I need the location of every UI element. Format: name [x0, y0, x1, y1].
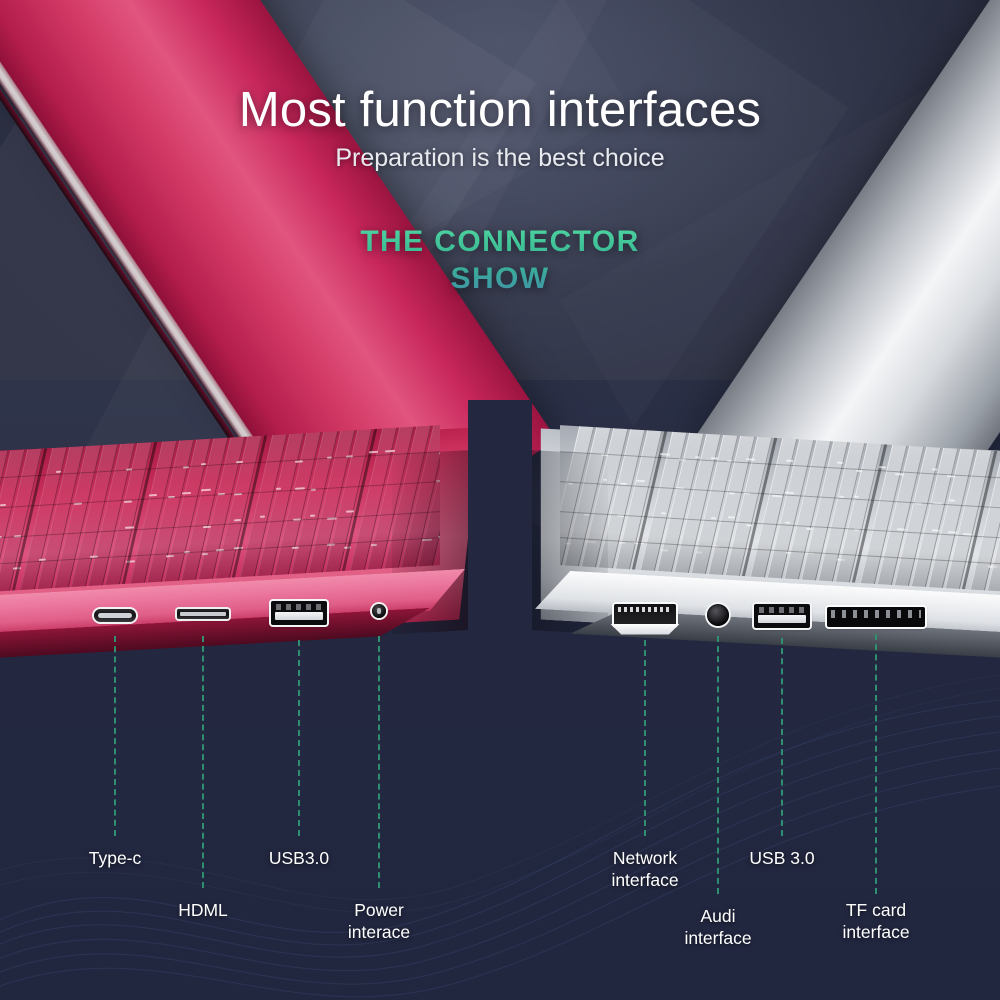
accent-heading: THE CONNECTOR SHOW: [0, 224, 1000, 297]
background-wave-mesh: [0, 670, 1000, 1000]
usb-pins: [759, 607, 805, 613]
key-legend: [806, 528, 812, 530]
key-legend: [56, 470, 62, 472]
key-legend: [310, 514, 315, 516]
usb-pins: [276, 604, 322, 610]
key-legend: [879, 466, 886, 468]
usb-tongue: [758, 615, 806, 623]
usb-tongue: [275, 612, 323, 620]
key-legend: [711, 457, 718, 459]
hdmi-port-icon: [177, 609, 229, 619]
page-title: Most function interfaces: [0, 82, 1000, 138]
port-label: TF card interface: [776, 900, 976, 944]
tf-card-slot-icon: [827, 607, 925, 627]
accent-heading-line2: SHOW: [451, 262, 550, 295]
port-label: Type-c: [15, 848, 215, 870]
key-legend: [895, 473, 903, 476]
key-legend: [661, 512, 666, 514]
product-marketing-image: Most function interfaces Preparation is …: [0, 0, 1000, 1000]
key-legend: [0, 504, 6, 506]
key-legend: [854, 495, 860, 497]
rj45-pins: [618, 607, 672, 612]
center-background-gap: [468, 400, 532, 650]
rj45-ethernet-port-icon: [614, 604, 676, 626]
port-label: HDML: [103, 900, 303, 922]
usb-type-c-port-icon: [94, 609, 136, 622]
key-legend: [276, 487, 281, 489]
rj45-flip-door: [610, 624, 680, 635]
key-legend: [785, 491, 794, 494]
page-subtitle: Preparation is the best choice: [0, 144, 1000, 173]
port-leader-line: [298, 640, 300, 836]
port-leader-line: [781, 638, 783, 836]
accent-heading-line1: THE CONNECTOR: [360, 225, 639, 258]
usb-a-port-icon: [754, 604, 810, 628]
port-leader-line: [644, 640, 646, 836]
port-leader-line: [114, 636, 116, 836]
key-legend: [746, 524, 753, 526]
port-label: USB 3.0: [682, 848, 882, 870]
key-legend: [785, 521, 790, 523]
key-legend: [932, 529, 939, 531]
key-legend: [786, 459, 793, 461]
tf-contacts: [831, 610, 921, 618]
key-legend: [660, 453, 669, 456]
key-legend: [728, 516, 735, 518]
usb-a-port-icon: [271, 601, 327, 625]
port-label: USB3.0: [199, 848, 399, 870]
port-label: Power interace: [279, 900, 479, 944]
